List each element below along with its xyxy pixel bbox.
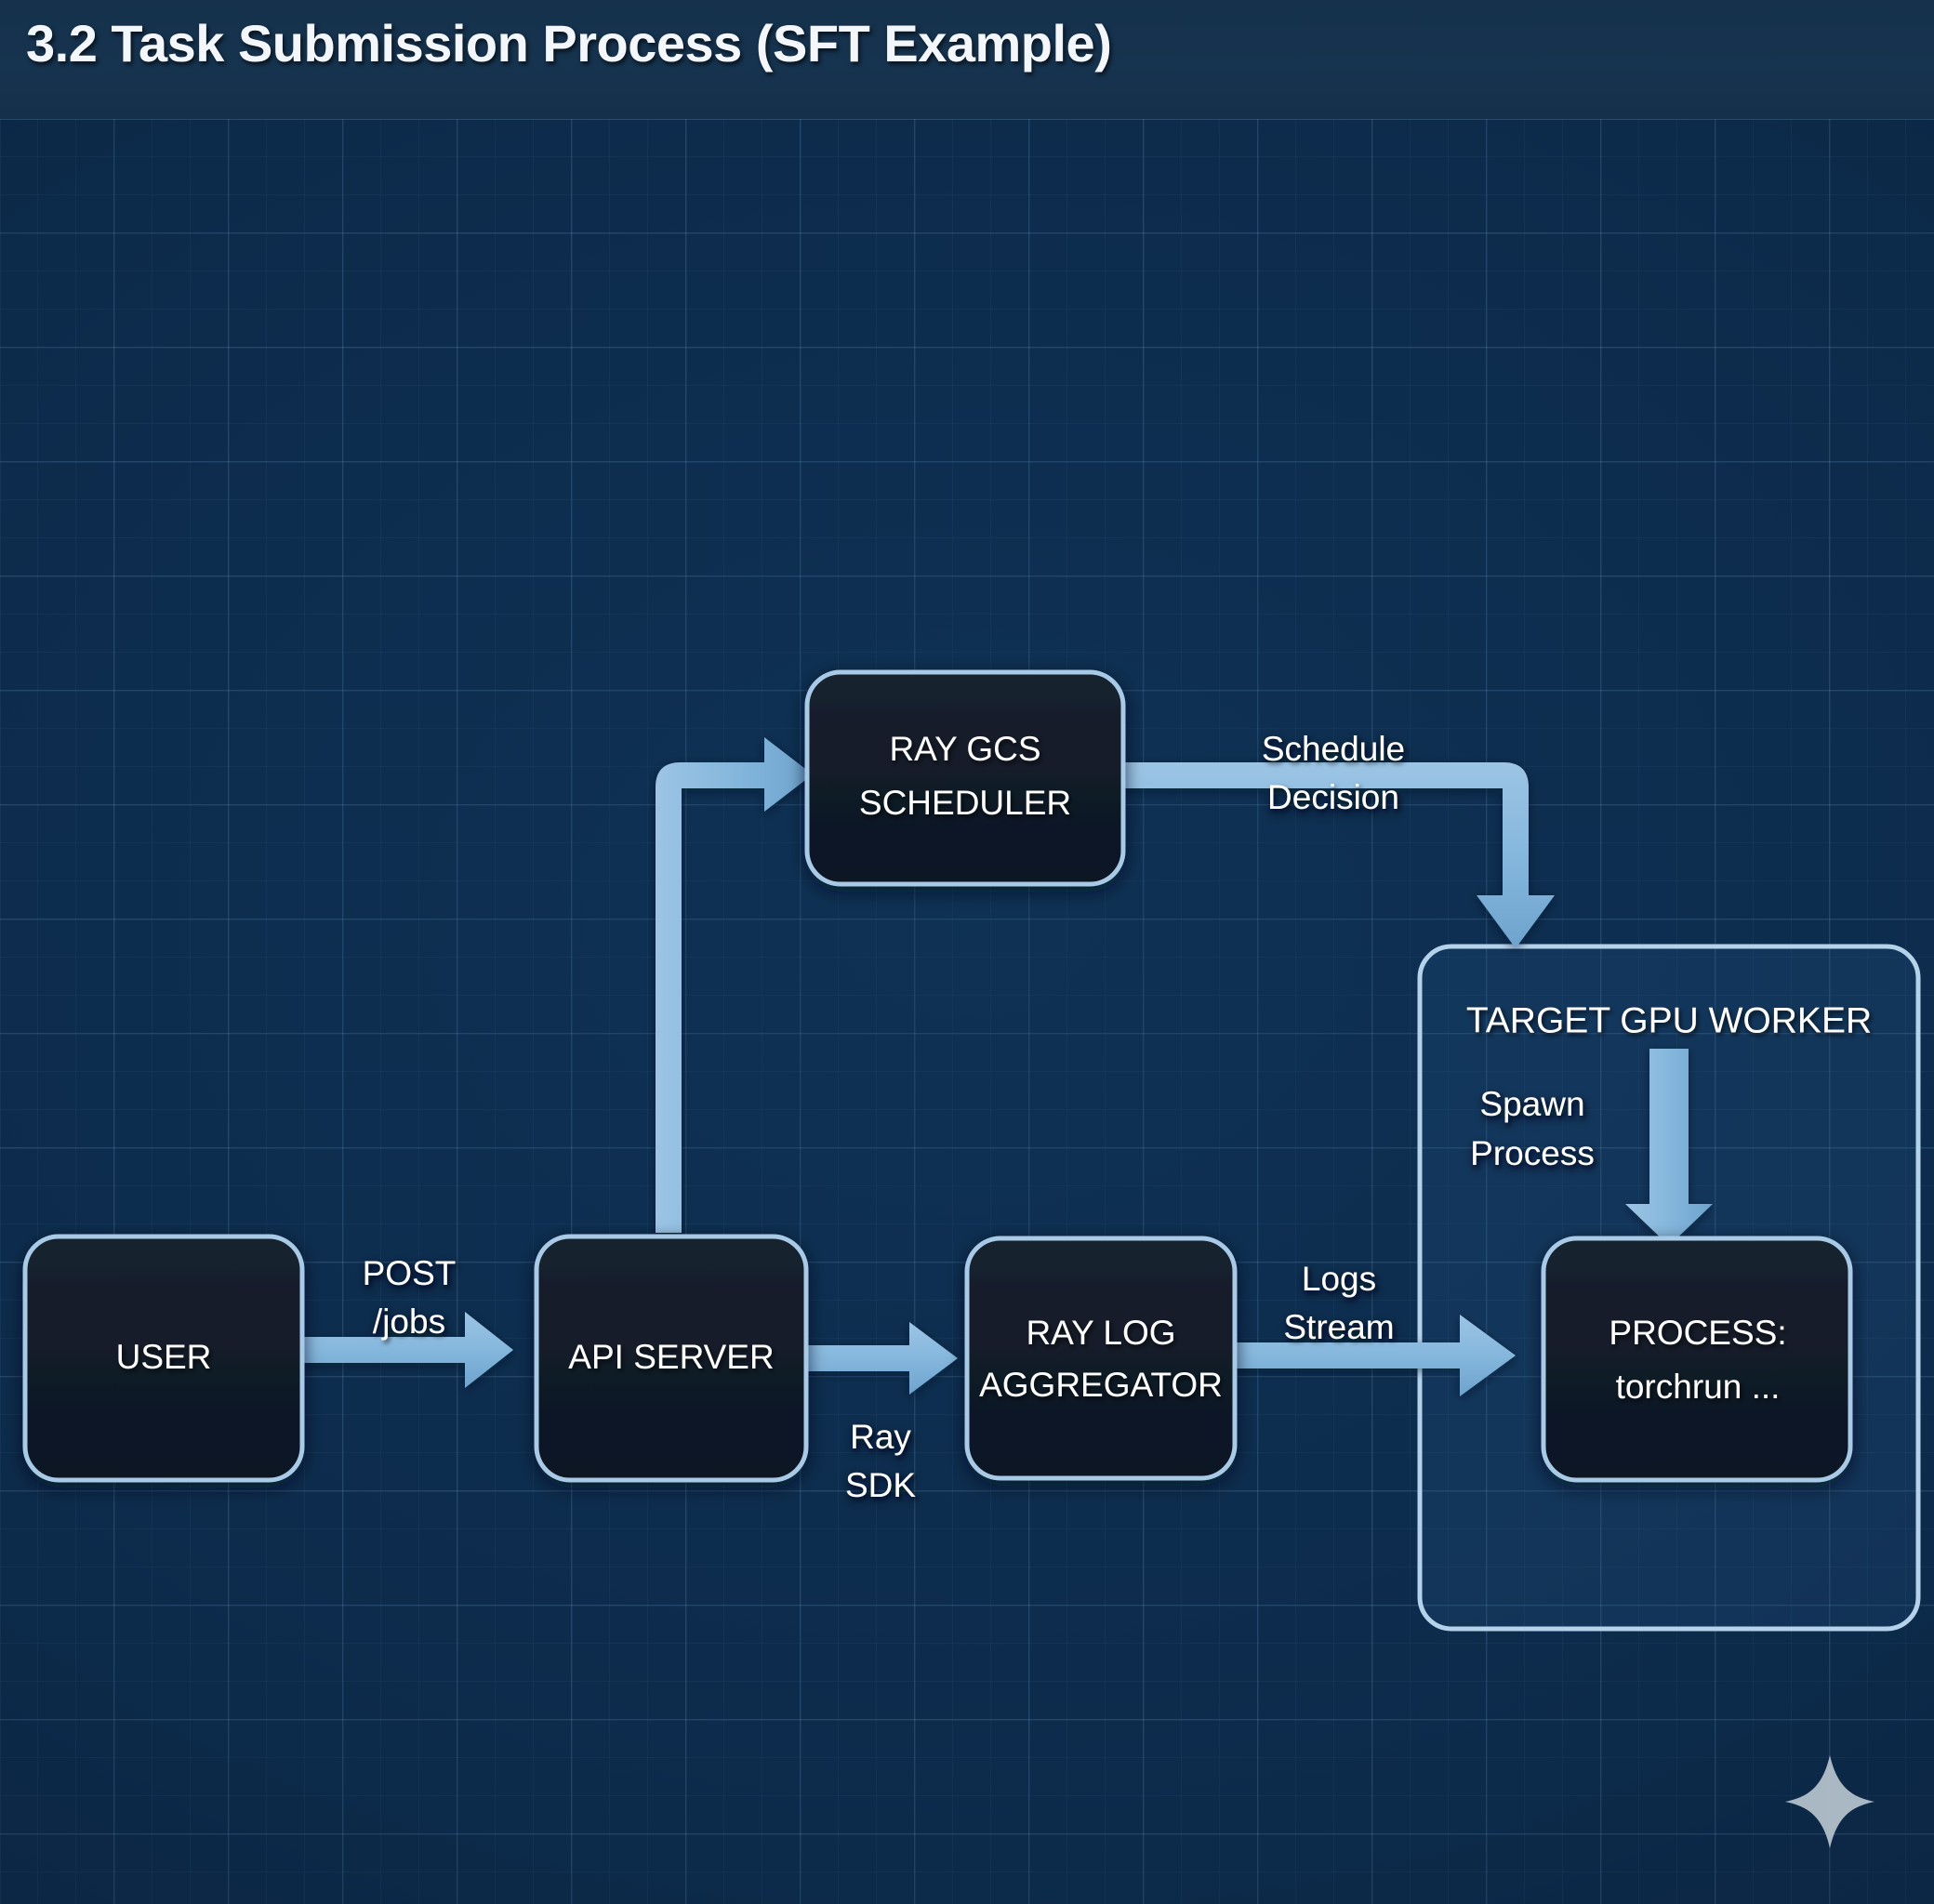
node-api-server-label: API SERVER — [568, 1338, 774, 1376]
node-ray-gcs-scheduler-label-line1: RAY GCS — [889, 730, 1040, 768]
group-target-gpu-worker-title: TARGET GPU WORKER — [1466, 1000, 1872, 1040]
sparkle-icon — [1785, 1755, 1874, 1848]
node-ray-log-aggregator-label-line1: RAY LOG — [1026, 1314, 1175, 1352]
edge-gcs-to-gpu-worker-label-line1: Schedule — [1262, 730, 1405, 768]
node-ray-gcs-scheduler[interactable]: RAY GCS SCHEDULER — [807, 672, 1123, 884]
node-process-torchrun-box[interactable] — [1543, 1238, 1850, 1480]
node-process-torchrun[interactable]: PROCESS: torchrun ... — [1543, 1238, 1850, 1480]
node-user[interactable]: USER — [25, 1236, 302, 1480]
edge-spawn-process-label-line1: Spawn — [1479, 1085, 1584, 1123]
node-ray-gcs-scheduler-label-line2: SCHEDULER — [859, 784, 1071, 822]
diagram-canvas: 3.2 Task Submission Process (SFT Example… — [0, 0, 1934, 1904]
node-process-torchrun-label-line1: PROCESS: — [1609, 1314, 1786, 1352]
node-ray-log-aggregator-box[interactable] — [967, 1238, 1235, 1478]
edge-gcs-to-gpu-worker: Schedule Decision — [1120, 730, 1555, 948]
node-ray-gcs-scheduler-box[interactable] — [807, 672, 1123, 884]
edge-logagg-to-process-label-line1: Logs — [1302, 1260, 1376, 1298]
edge-api-to-gcs-arrow — [656, 737, 813, 1233]
edge-api-to-gcs — [656, 737, 813, 1233]
edge-gcs-to-gpu-worker-label-line2: Decision — [1267, 778, 1399, 816]
edge-api-to-logagg-label-line1: Ray — [850, 1418, 911, 1456]
edge-spawn-process-label-line2: Process — [1470, 1134, 1595, 1172]
flowchart-svg: TARGET GPU WORKER Schedule Decision Spaw… — [0, 0, 1934, 1904]
edge-user-to-api-label-line2: /jobs — [373, 1302, 445, 1341]
edge-user-to-api-label-line1: POST — [363, 1254, 457, 1292]
node-process-torchrun-label-line2: torchrun ... — [1616, 1368, 1781, 1406]
edge-api-to-logagg: Ray SDK — [805, 1322, 958, 1504]
node-api-server[interactable]: API SERVER — [536, 1236, 806, 1480]
edge-user-to-api: POST /jobs — [302, 1254, 513, 1388]
edge-api-to-logagg-label-line2: SDK — [845, 1466, 916, 1504]
edge-logagg-to-process-label-line2: Stream — [1283, 1308, 1394, 1346]
node-ray-log-aggregator-label-line2: AGGREGATOR — [979, 1366, 1223, 1404]
node-user-label: USER — [116, 1338, 212, 1376]
node-ray-log-aggregator[interactable]: RAY LOG AGGREGATOR — [967, 1238, 1235, 1478]
edge-api-to-logagg-arrow — [805, 1322, 958, 1395]
